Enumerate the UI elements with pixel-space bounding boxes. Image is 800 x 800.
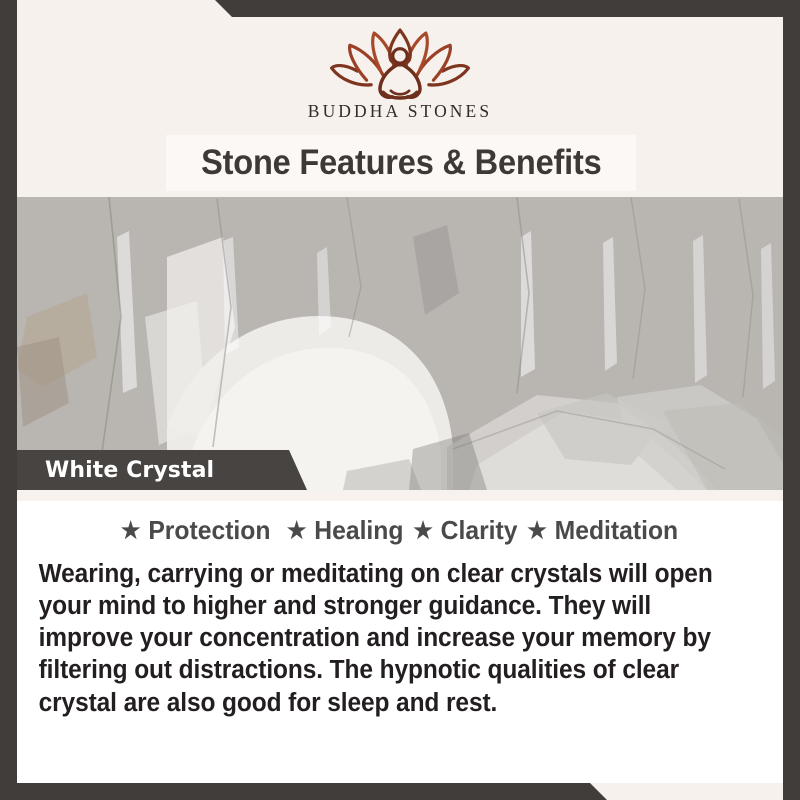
brand-header: BUDDHA STONES xyxy=(17,17,783,135)
description-text: Wearing, carrying or meditating on clear… xyxy=(29,558,741,719)
frame-right-bar xyxy=(783,0,800,800)
stone-name-label: White Crystal xyxy=(17,458,214,483)
star-icon: ★ xyxy=(412,517,433,543)
lotus-meditation-figure-icon xyxy=(324,25,476,105)
star-icon: ★ xyxy=(526,517,547,543)
frame-left-bar xyxy=(0,0,17,800)
stone-name-tag: White Crystal xyxy=(17,450,307,490)
content-surface: BUDDHA STONES Stone Features & Benefits xyxy=(17,17,783,783)
benefit-protection: Protection xyxy=(148,515,279,545)
brand-name: BUDDHA STONES xyxy=(308,101,492,122)
benefit-clarity: Clarity xyxy=(441,515,520,545)
benefit-meditation: Meditation xyxy=(555,515,680,545)
benefit-healing: Healing xyxy=(314,515,405,545)
title-panel: Stone Features & Benefits xyxy=(166,135,636,191)
title-banner: Stone Features & Benefits xyxy=(17,135,783,197)
star-icon: ★ xyxy=(286,517,307,543)
benefits-row: ★ Protection ★ Healing ★ Clarity ★ Medit… xyxy=(48,515,753,546)
photo-body-separator xyxy=(17,490,783,501)
page-title: Stone Features & Benefits xyxy=(201,143,602,183)
stone-features-infographic: BUDDHA STONES Stone Features & Benefits xyxy=(0,0,800,800)
star-icon: ★ xyxy=(120,517,141,543)
white-crystal-cluster-photo: White Crystal xyxy=(17,197,783,490)
frame-top-bar xyxy=(0,0,800,17)
frame-bottom-bar xyxy=(0,783,800,800)
body-block: ★ Protection ★ Healing ★ Clarity ★ Medit… xyxy=(17,501,783,783)
